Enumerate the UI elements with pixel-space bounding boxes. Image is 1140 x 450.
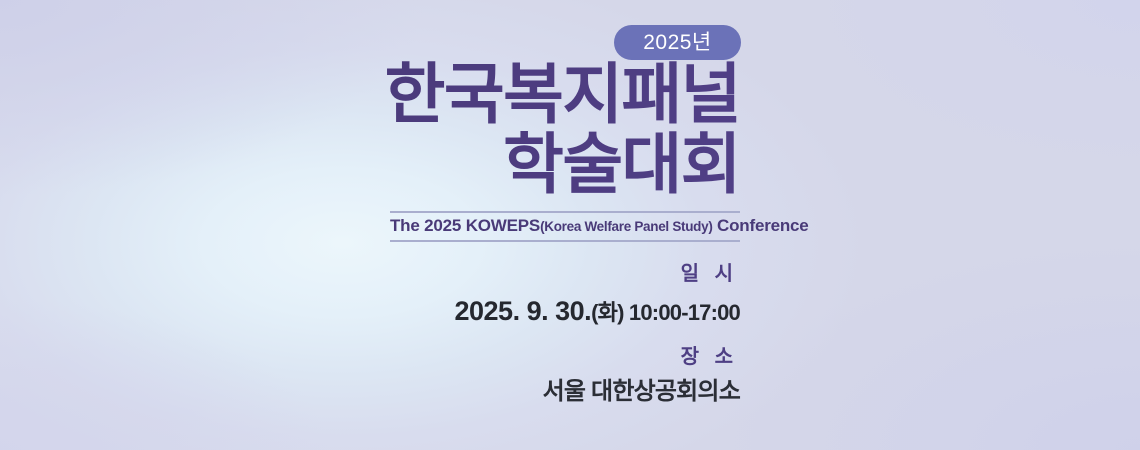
datetime-date: 2025. 9. 30. <box>455 296 592 326</box>
datetime-label: 일 시 <box>0 262 740 286</box>
english-subtitle-block: The 2025 KOWEPS(Korea Welfare Panel Stud… <box>390 211 740 242</box>
subtitle-rule-bottom <box>390 240 740 242</box>
subtitle-lead: The 2025 KOWEPS <box>390 216 540 235</box>
banner-content: 2025년 한국복지패널 학술대회 The 2025 KOWEPS(Korea … <box>0 0 1140 450</box>
location-venue: 서울 대한상공회의소 <box>0 378 740 407</box>
subtitle-parenthetical: (Korea Welfare Panel Study) <box>540 219 712 234</box>
subtitle-trail: Conference <box>713 216 809 235</box>
title-line-1: 한국복지패널 <box>0 60 740 130</box>
location-label: 장 소 <box>0 345 740 369</box>
year-badge: 2025년 <box>614 25 741 60</box>
datetime-block: 일 시 2025. 9. 30.(화) 10:00-17:00 <box>0 262 740 327</box>
banner-title: 한국복지패널 학술대회 <box>0 60 740 200</box>
conference-banner: 2025년 한국복지패널 학술대회 The 2025 KOWEPS(Korea … <box>0 0 1140 450</box>
english-subtitle: The 2025 KOWEPS(Korea Welfare Panel Stud… <box>390 213 740 240</box>
datetime-value: 2025. 9. 30.(화) 10:00-17:00 <box>0 295 740 327</box>
title-line-2: 학술대회 <box>0 130 740 200</box>
datetime-detail: (화) 10:00-17:00 <box>591 300 740 325</box>
location-block: 장 소 서울 대한상공회의소 <box>0 345 740 407</box>
